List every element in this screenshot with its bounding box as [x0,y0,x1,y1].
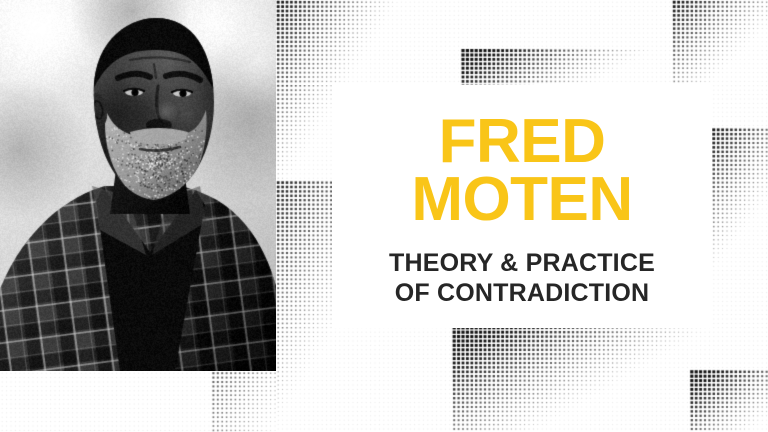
title-line-2: MOTEN [332,169,712,231]
poster-canvas: FRED MOTEN THEORY & PRACTICE OF CONTRADI… [0,0,768,432]
portrait-canvas [0,0,276,371]
portrait-photo [0,0,276,371]
title-line-1: FRED [332,111,712,173]
halftone-pattern-left [0,371,276,432]
subtitle-line-1: THEORY & PRACTICE [332,251,712,276]
title-card: FRED MOTEN THEORY & PRACTICE OF CONTRADI… [332,85,712,328]
subtitle-line-2: OF CONTRADICTION [332,281,712,306]
